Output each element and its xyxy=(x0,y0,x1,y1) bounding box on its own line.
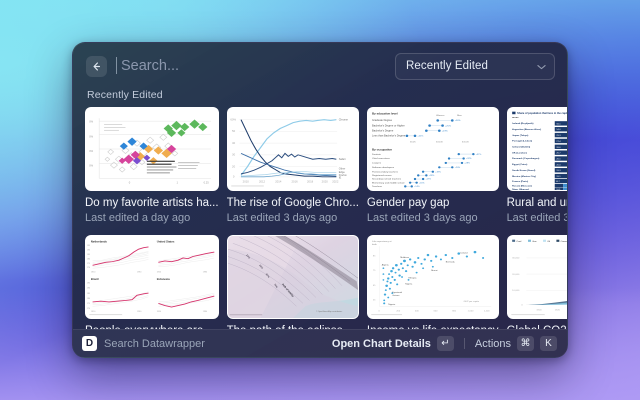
svg-text:$50K: $50K xyxy=(410,141,416,143)
chart-thumbnail-stacked-bars: Share of population that lives in the ca… xyxy=(507,107,567,191)
svg-text:185: 185 xyxy=(87,254,90,256)
svg-text:Niger (Niamey): Niger (Niamey) xyxy=(512,189,529,190)
svg-text:180: 180 xyxy=(87,258,90,260)
svg-text:Equatorial: Equatorial xyxy=(392,291,402,294)
svg-text:Guinea: Guinea xyxy=(392,295,400,297)
svg-text:$100K: $100K xyxy=(436,141,443,143)
chart-thumbnail-browser-share-lines: 60%5040 30200 201020122014 2016201820202… xyxy=(227,107,359,191)
svg-text:2010: 2010 xyxy=(242,180,249,184)
footer-divider xyxy=(464,338,465,349)
svg-text:Postsecondary teachers: Postsecondary teachers xyxy=(372,171,399,174)
svg-text:1980: 1980 xyxy=(137,272,141,274)
svg-text:Indonesia: Indonesia xyxy=(157,277,171,281)
svg-text:Men: Men xyxy=(457,115,462,117)
svg-text:Denmark (Copenhagen): Denmark (Copenhagen) xyxy=(512,158,539,160)
svg-text:Iceland (Dublin): Iceland (Dublin) xyxy=(512,147,530,149)
svg-text:2012: 2012 xyxy=(259,180,266,184)
svg-text:birth: birth xyxy=(372,243,377,246)
results-area: Recently Edited 0%0%0%0% 010.25 xyxy=(73,89,567,329)
svg-text:Safari: Safari xyxy=(338,158,345,161)
svg-text:1980: 1980 xyxy=(203,311,207,313)
svg-text:+28%: +28% xyxy=(464,163,470,165)
svg-text:Cement, Flaring & Other Indust: Cement, Flaring & Other Industry xyxy=(560,240,567,243)
actions-label: Actions xyxy=(475,338,511,350)
svg-text:+20%: +20% xyxy=(455,167,461,169)
chevron-down-icon xyxy=(537,57,546,75)
search-field-wrapper xyxy=(116,53,386,79)
svg-text:195: 195 xyxy=(87,283,90,285)
svg-text:Mexico (Mexico City): Mexico (Mexico City) xyxy=(512,175,536,178)
svg-text:+25%: +25% xyxy=(445,125,451,127)
svg-text:+17%: +17% xyxy=(425,179,431,181)
chart-card-title: People everywhere are xyxy=(85,324,219,329)
svg-text:areas: areas xyxy=(512,117,519,119)
svg-text:2022: 2022 xyxy=(332,180,339,184)
command-key-icon[interactable]: ⌘ xyxy=(517,336,534,351)
chart-card-title: Rural and urban populati... xyxy=(507,196,567,210)
svg-text:Argentina (Buenos Aires): Argentina (Buenos Aires) xyxy=(512,128,541,131)
open-chart-details-action[interactable]: Open Chart Details ↵ xyxy=(332,336,454,351)
svg-text:+30%: +30% xyxy=(455,120,461,122)
svg-text:175: 175 xyxy=(87,263,90,265)
section-heading: Recently Edited xyxy=(87,89,555,101)
svg-text:1,200: 1,200 xyxy=(484,310,491,312)
svg-text:1850: 1850 xyxy=(91,272,95,274)
svg-text:0.25: 0.25 xyxy=(204,182,210,185)
sort-filter-dropdown[interactable]: Recently Edited xyxy=(395,53,555,80)
chart-card-title: Global CO2 emissions b xyxy=(507,324,567,329)
svg-text:Egypt (Cairo): Egypt (Cairo) xyxy=(512,163,527,166)
search-toolbar: Recently Edited xyxy=(73,43,567,89)
svg-text:Nigeria: Nigeria xyxy=(388,303,396,306)
svg-text:+21%: +21% xyxy=(417,136,423,138)
chart-thumbnail-small-multiples-lines: NetherlandsUnited States BrazilIndonesia… xyxy=(85,235,219,319)
chart-card[interactable]: 60%5040 30200 201020122014 2016201820202… xyxy=(227,107,359,225)
chart-card-title: The rise of Google Chro... xyxy=(227,196,359,210)
svg-text:Chief executives: Chief executives xyxy=(372,157,391,160)
search-input[interactable] xyxy=(116,58,386,74)
svg-text:Brunei: Brunei xyxy=(431,269,438,272)
svg-text:195: 195 xyxy=(87,245,90,247)
svg-text:180: 180 xyxy=(87,298,90,300)
back-button[interactable] xyxy=(86,56,107,77)
svg-text:10.3: 10.3 xyxy=(556,189,560,190)
svg-text:South Korea (Seoul): South Korea (Seoul) xyxy=(512,169,535,172)
chart-card-title: Gender pay gap xyxy=(367,196,499,210)
svg-text:+23%: +23% xyxy=(442,130,448,132)
svg-text:Oil: Oil xyxy=(547,241,550,243)
chart-card-subtitle: Last edited a day ago xyxy=(85,211,219,225)
svg-text:Ireland (Reykjavik): Ireland (Reykjavik) xyxy=(512,123,534,125)
svg-text:UK (London): UK (London) xyxy=(512,152,527,154)
svg-text:Japan (Tokyo): Japan (Tokyo) xyxy=(512,135,528,137)
svg-text:60%: 60% xyxy=(230,118,236,122)
svg-text:+19%: +19% xyxy=(435,171,441,173)
svg-text:20,000: 20,000 xyxy=(512,274,520,276)
chart-card-subtitle: Last edited 3 days ago xyxy=(367,211,499,225)
svg-text:190: 190 xyxy=(87,250,90,252)
svg-text:16.7: 16.7 xyxy=(555,181,559,183)
chart-card-title: Income vs life expectancy xyxy=(367,324,499,329)
svg-text:+37%: +37% xyxy=(476,154,482,156)
svg-text:Registered nurses: Registered nurses xyxy=(372,174,392,177)
svg-text:1850: 1850 xyxy=(157,272,161,274)
svg-text:Teachers: Teachers xyxy=(372,185,383,188)
svg-text:Portugal (Lisbon): Portugal (Lisbon) xyxy=(512,140,532,143)
chart-card[interactable]: By education level Graduate Degree Bache… xyxy=(367,107,499,225)
svg-text:Iceland: Iceland xyxy=(460,253,468,255)
svg-text:2014: 2014 xyxy=(275,180,282,184)
svg-text:Bachelor's Degree or Higher: Bachelor's Degree or Higher xyxy=(372,124,405,127)
svg-text:Chrome: Chrome xyxy=(338,119,348,122)
chart-card[interactable]: 10% 25% 50% 75% Path of totality © OpenS… xyxy=(227,235,359,329)
svg-text:30,000: 30,000 xyxy=(512,258,520,260)
svg-text:170: 170 xyxy=(87,308,90,310)
svg-text:Graduate Degree: Graduate Degree xyxy=(372,119,393,122)
footer-bar: D Search Datawrapper Open Chart Details … xyxy=(73,329,567,357)
chart-card[interactable]: Coal Gas Oil Cement, Flaring & Other Ind… xyxy=(507,235,567,329)
arrow-left-icon xyxy=(91,61,102,72)
svg-text:+16%: +16% xyxy=(419,182,425,184)
chart-card[interactable]: Share of population that lives in the ca… xyxy=(507,107,567,225)
chart-card-subtitle: Last edited 3 days ago xyxy=(507,211,567,225)
chart-thumbnail-bubble-scatter: Life expectancy at birth 85756555 020040… xyxy=(367,235,499,319)
chart-thumbnail-eclipse-map: 10% 25% 50% 75% Path of totality © OpenS… xyxy=(227,235,359,319)
svg-text:1850: 1850 xyxy=(91,311,95,313)
datawrapper-logo-icon: D xyxy=(82,336,97,351)
svg-text:Algeria: Algeria xyxy=(382,263,390,266)
svg-text:1900: 1900 xyxy=(536,310,542,312)
svg-text:Elementary and middle school: Elementary and middle school xyxy=(372,182,405,185)
text-caret xyxy=(116,57,117,74)
svg-text:2020: 2020 xyxy=(321,180,328,184)
svg-text:Life expectancy at: Life expectancy at xyxy=(372,240,392,243)
chart-card[interactable]: Life expectancy at birth 85756555 020040… xyxy=(367,235,499,329)
open-chart-details-label: Open Chart Details xyxy=(332,338,431,350)
enter-key-icon[interactable]: ↵ xyxy=(437,336,454,351)
svg-text:175: 175 xyxy=(87,303,90,305)
svg-text:By occupation: By occupation xyxy=(372,148,392,152)
chart-card-subtitle: Last edited 3 days ago xyxy=(227,211,359,225)
svg-text:Russia (Moscow): Russia (Moscow) xyxy=(512,185,532,187)
svg-text:United States: United States xyxy=(157,240,175,244)
svg-text:Coal: Coal xyxy=(516,241,521,243)
sort-filter-value: Recently Edited xyxy=(406,60,488,72)
svg-text:1,000: 1,000 xyxy=(468,310,475,312)
svg-text:+18%: +18% xyxy=(429,175,435,177)
actions-menu-action[interactable]: Actions ⌘ K xyxy=(475,336,557,351)
svg-text:Dentists: Dentists xyxy=(372,153,382,156)
chart-card-title: The path of the eclipse xyxy=(227,324,359,329)
svg-text:Brazil: Brazil xyxy=(91,277,99,281)
svg-text:Maldives: Maldives xyxy=(400,257,409,259)
chart-card[interactable]: 0%0%0%0% 010.25 xyxy=(85,107,219,225)
svg-text:2018: 2018 xyxy=(307,180,314,184)
svg-text:Bachelor's Degree: Bachelor's Degree xyxy=(372,130,394,133)
svg-text:10,000: 10,000 xyxy=(512,290,520,292)
svg-text:$150K: $150K xyxy=(462,141,469,143)
chart-card[interactable]: NetherlandsUnited States BrazilIndonesia… xyxy=(85,235,219,329)
svg-text:Netherlands: Netherlands xyxy=(91,240,108,244)
svg-text:185: 185 xyxy=(87,293,90,295)
svg-text:Bermuda: Bermuda xyxy=(446,260,456,263)
svg-text:1850: 1850 xyxy=(157,311,161,313)
chart-thumbnail-scatter-diamonds: 0%0%0%0% 010.25 xyxy=(85,107,219,191)
svg-text:1980: 1980 xyxy=(137,311,141,313)
svg-text:Software developers: Software developers xyxy=(372,166,395,169)
svg-text:+32%: +32% xyxy=(466,158,472,160)
svg-text:1980: 1980 xyxy=(203,272,207,274)
footer-brand-label: Search Datawrapper xyxy=(104,338,205,350)
command-palette-modal: Recently Edited Recently Edited xyxy=(72,42,568,358)
svg-text:Women: Women xyxy=(436,115,445,117)
svg-text:By education level: By education level xyxy=(372,112,398,116)
svg-text:France (Paris): France (Paris) xyxy=(512,181,528,183)
svg-text:Ethiopia: Ethiopia xyxy=(408,277,417,280)
chart-card-title: Do my favorite artists ha... xyxy=(85,196,219,210)
svg-text:Other: Other xyxy=(338,168,345,171)
svg-text:Share of population that lives: Share of population that lives in the ca… xyxy=(517,112,567,115)
svg-text:1920: 1920 xyxy=(554,310,560,312)
svg-text:170: 170 xyxy=(87,267,90,269)
chart-thumbnail-stacked-area: Coal Gas Oil Cement, Flaring & Other Ind… xyxy=(507,235,567,319)
svg-text:© OpenStreetMap contributors: © OpenStreetMap contributors xyxy=(316,310,342,313)
chart-grid: 0%0%0%0% 010.25 xyxy=(85,107,555,329)
svg-text:IE: IE xyxy=(338,176,341,179)
svg-text:GDP per capita: GDP per capita xyxy=(464,300,480,303)
svg-text:Secondary school teachers: Secondary school teachers xyxy=(372,178,402,181)
chart-thumbnail-dot-range-plot: By education level Graduate Degree Bache… xyxy=(367,107,499,191)
svg-text:190: 190 xyxy=(87,288,90,290)
svg-text:Lawyers: Lawyers xyxy=(372,162,382,165)
svg-text:+14%: +14% xyxy=(414,186,420,188)
svg-text:2016: 2016 xyxy=(291,180,298,184)
svg-text:Less than Bachelor's Degree: Less than Bachelor's Degree xyxy=(372,135,406,138)
k-key-icon[interactable]: K xyxy=(540,336,557,351)
svg-text:Nigeria: Nigeria xyxy=(405,282,413,285)
